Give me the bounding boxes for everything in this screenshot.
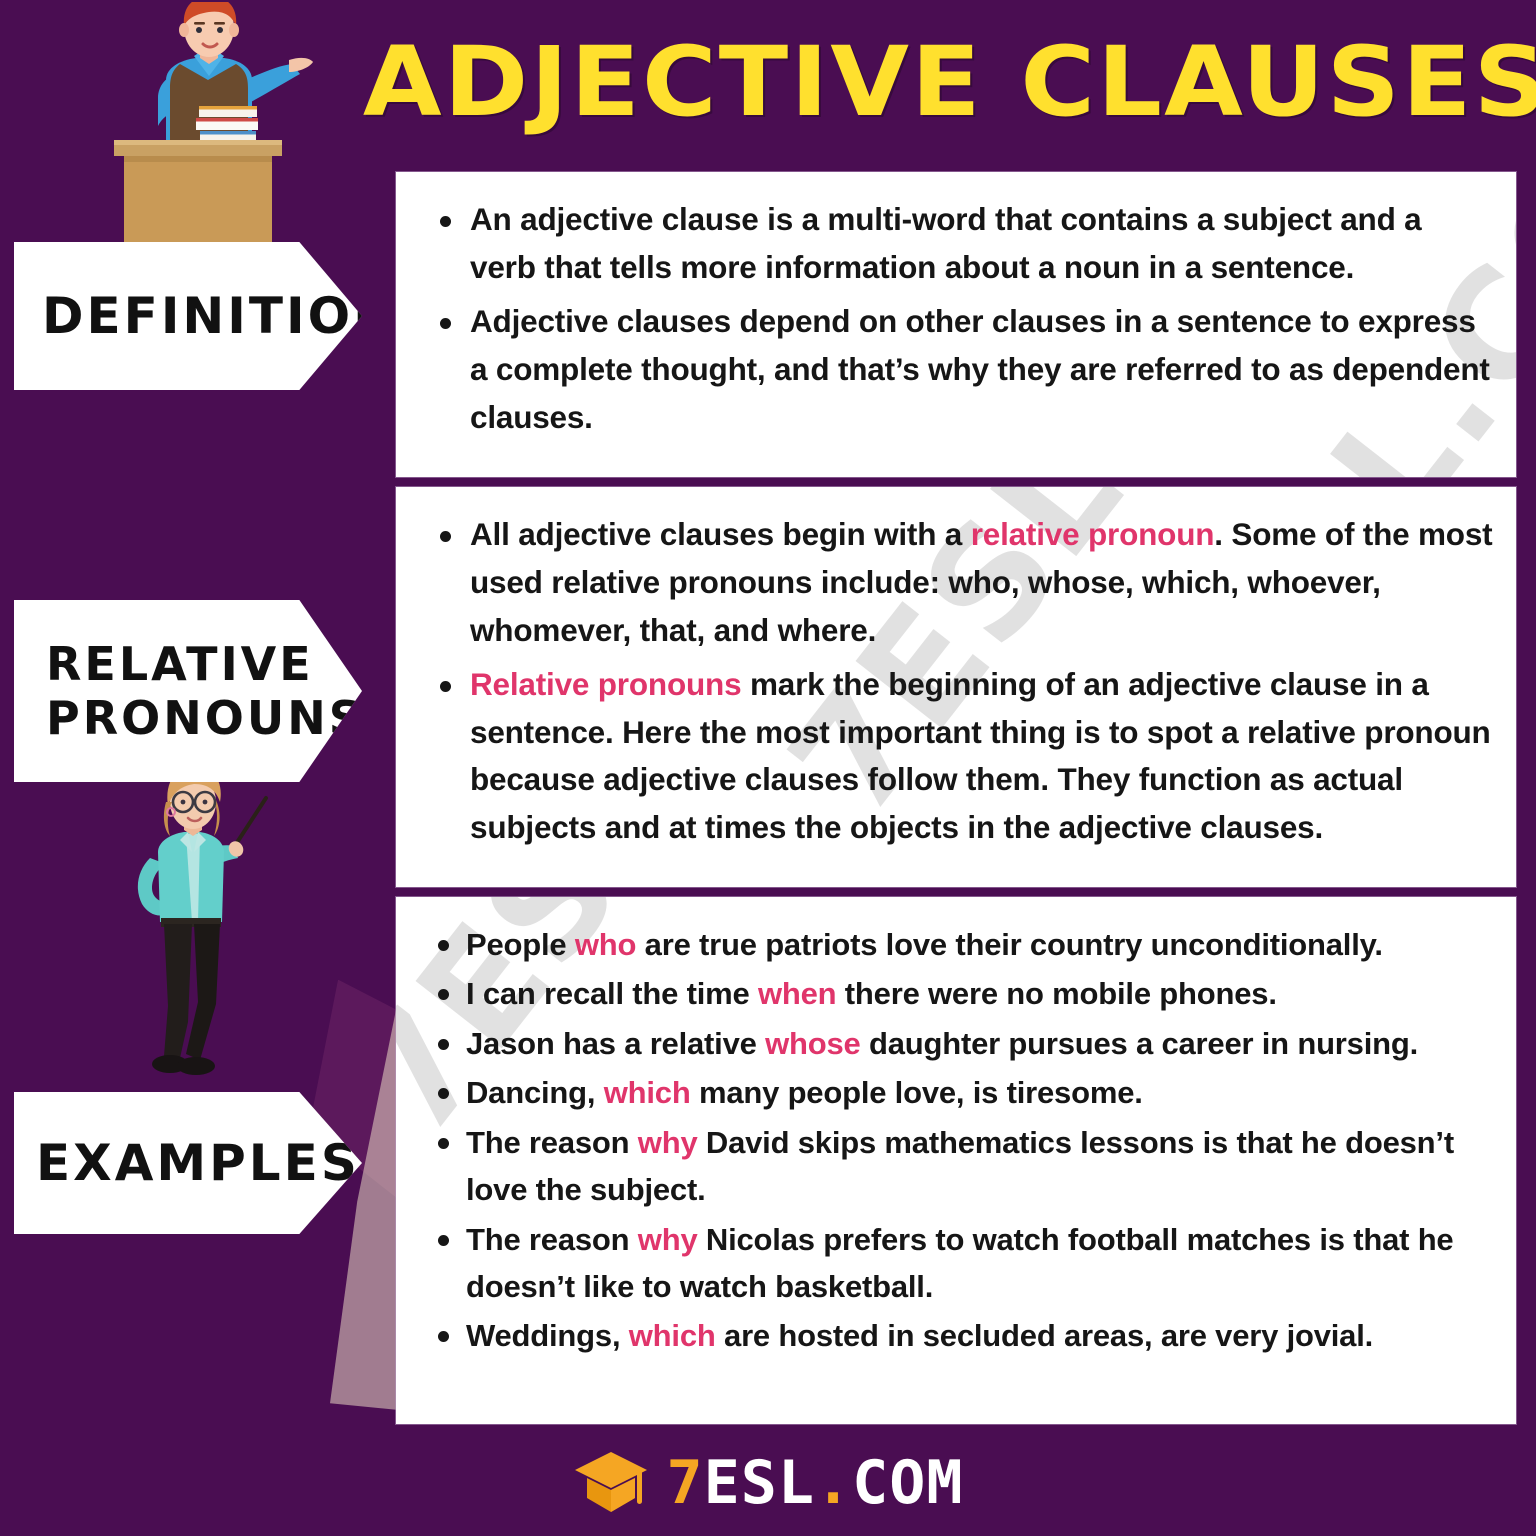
page-title: ADJECTIVE CLAUSES xyxy=(362,18,1536,146)
list-item: Weddings, which are hosted in secluded a… xyxy=(424,1312,1494,1359)
text-run: daughter pursues a career in nursing. xyxy=(861,1026,1418,1061)
highlighted-term: which xyxy=(604,1075,691,1110)
list-item: An adjective clause is a multi-word that… xyxy=(424,196,1494,292)
highlighted-term: who xyxy=(575,927,636,962)
list-item: Adjective clauses depend on other clause… xyxy=(424,298,1494,442)
logo-com: COM xyxy=(852,1448,963,1518)
section-banner-examples: EXAMPLES xyxy=(14,1092,362,1234)
list-item: People who are true patriots love their … xyxy=(424,921,1494,968)
text-run: All adjective clauses begin with a xyxy=(470,516,971,552)
footer-logo[interactable]: 7ESL.COM xyxy=(0,1440,1536,1526)
graduation-cap-icon xyxy=(573,1450,649,1516)
text-run: The reason xyxy=(466,1222,638,1257)
highlighted-term: which xyxy=(629,1318,716,1353)
highlighted-term: relative pronoun xyxy=(971,516,1215,552)
logo-seven: 7 xyxy=(667,1448,704,1518)
list-item: I can recall the time when there were no… xyxy=(424,970,1494,1017)
highlighted-term: why xyxy=(638,1125,698,1160)
examples-bullet-list: People who are true patriots love their … xyxy=(424,921,1494,1360)
male-teacher-at-desk-illustration xyxy=(96,2,396,248)
list-item: The reason why David skips mathematics l… xyxy=(424,1119,1494,1214)
definition-bullet-list: An adjective clause is a multi-word that… xyxy=(424,196,1494,441)
list-item: All adjective clauses begin with a relat… xyxy=(424,511,1494,655)
content-panel-relative-pronouns: 7ESL.COM All adjective clauses begin wit… xyxy=(396,487,1516,887)
content-panel-examples: 7ESL.COM People who are true patriots lo… xyxy=(396,897,1516,1424)
list-item: The reason why Nicolas prefers to watch … xyxy=(424,1216,1494,1311)
text-run: many people love, is tiresome. xyxy=(691,1075,1143,1110)
text-run: are true patriots love their country unc… xyxy=(636,927,1383,962)
highlighted-term: whose xyxy=(765,1026,860,1061)
text-run: An adjective clause is a multi-word that… xyxy=(470,201,1422,285)
logo-esl: ESL xyxy=(704,1448,815,1518)
text-run: Dancing, xyxy=(466,1075,604,1110)
text-run: there were no mobile phones. xyxy=(836,976,1276,1011)
section-banner-label: DEFINITION xyxy=(14,287,398,346)
section-banner-label: EXAMPLES xyxy=(14,1134,360,1193)
section-banner-relative-pronouns: RELATIVE PRONOUNS xyxy=(14,600,362,782)
section-banner-label: RELATIVE PRONOUNS xyxy=(14,637,365,746)
relative-pronouns-bullet-list: All adjective clauses begin with a relat… xyxy=(424,511,1494,852)
section-banner-definition: DEFINITION xyxy=(14,242,362,390)
text-run: Jason has a relative xyxy=(466,1026,765,1061)
text-run: I can recall the time xyxy=(466,976,758,1011)
text-run: The reason xyxy=(466,1125,638,1160)
content-panel-definition: 7ESL.COM An adjective clause is a multi-… xyxy=(396,172,1516,477)
female-teacher-with-pointer-illustration xyxy=(88,772,388,1102)
text-run: Weddings, xyxy=(466,1318,629,1353)
highlighted-term: when xyxy=(758,976,836,1011)
text-run: Adjective clauses depend on other clause… xyxy=(470,303,1490,435)
highlighted-term: Relative pronouns xyxy=(470,666,741,702)
text-run: are hosted in secluded areas, are very j… xyxy=(716,1318,1373,1353)
list-item: Relative pronouns mark the beginning of … xyxy=(424,661,1494,853)
logo-dot: . xyxy=(815,1448,852,1518)
list-item: Dancing, which many people love, is tire… xyxy=(424,1069,1494,1116)
list-item: Jason has a relative whose daughter purs… xyxy=(424,1020,1494,1067)
text-run: People xyxy=(466,927,575,962)
logo-wordmark: 7ESL.COM xyxy=(667,1453,964,1513)
highlighted-term: why xyxy=(638,1222,698,1257)
